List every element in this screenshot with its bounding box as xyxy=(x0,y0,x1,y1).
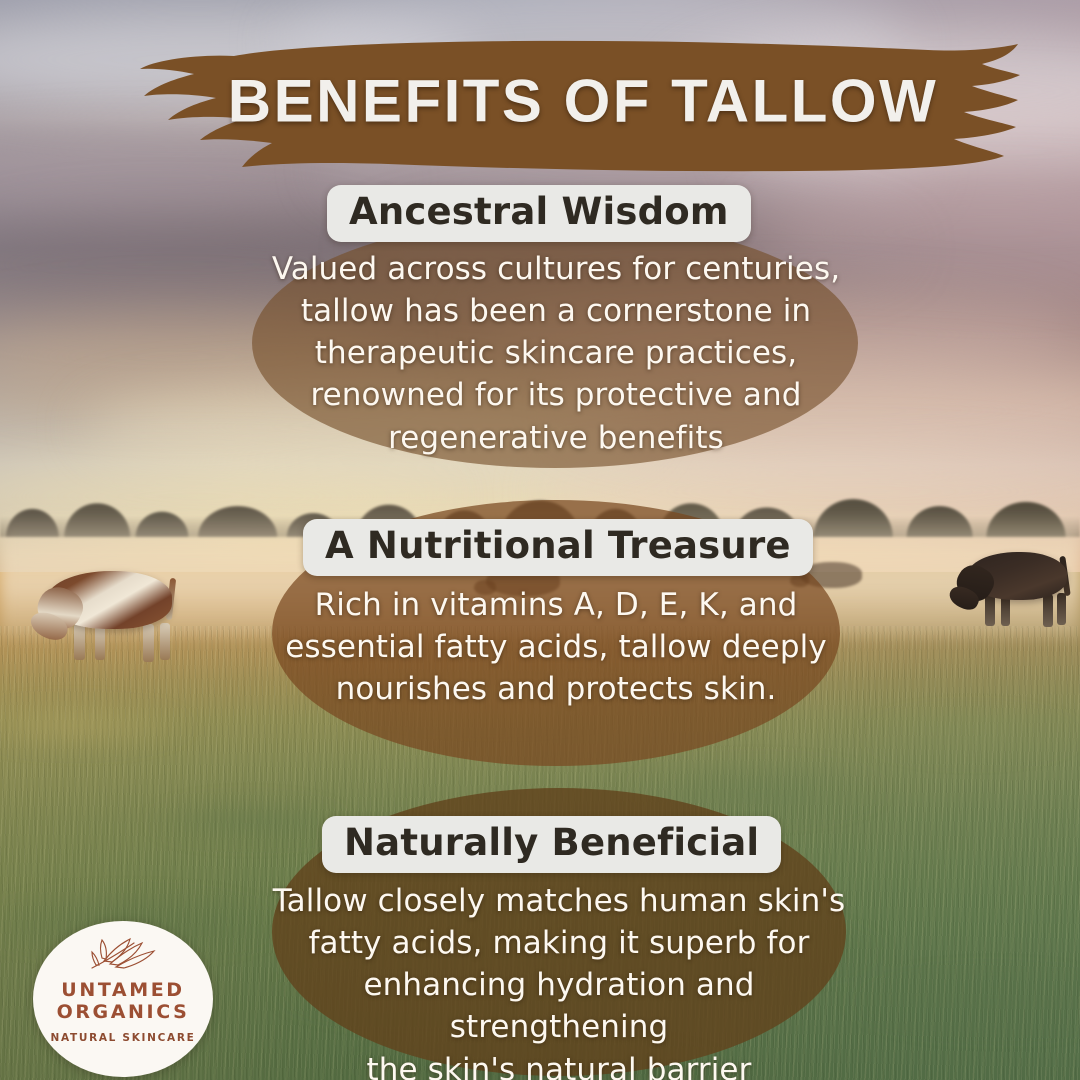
benefit-heading-pill-1: Ancestral Wisdom xyxy=(327,185,751,242)
benefit-body-2: Rich in vitamins A, D, E, K, and essenti… xyxy=(258,584,854,710)
benefit-body-line: enhancing hydration and strengthening xyxy=(250,964,868,1048)
logo-name-line1: UNTAMED xyxy=(61,979,184,1001)
benefit-body-line: therapeutic skincare practices, xyxy=(246,332,866,374)
benefit-heading-pill-2: A Nutritional Treasure xyxy=(303,519,813,576)
benefit-body-line: fatty acids, making it superb for xyxy=(250,922,868,964)
benefit-body-3: Tallow closely matches human skin's fatt… xyxy=(250,880,868,1080)
benefit-body-1: Valued across cultures for centuries, ta… xyxy=(246,248,866,459)
benefit-body-line: Rich in vitamins A, D, E, K, and xyxy=(258,584,854,626)
title-banner: BENEFITS OF TALLOW xyxy=(138,28,1022,174)
brand-logo[interactable]: UNTAMED ORGANICS NATURAL SKINCARE xyxy=(33,921,213,1077)
benefit-heading-pill-3: Naturally Beneficial xyxy=(322,816,781,873)
benefit-body-line: Tallow closely matches human skin's xyxy=(250,880,868,922)
benefit-body-line: essential fatty acids, tallow deeply xyxy=(258,626,854,668)
benefit-body-line: regenerative benefits xyxy=(246,417,866,459)
wheat-branch-icon xyxy=(86,935,160,973)
logo-name-line2: ORGANICS xyxy=(57,1001,190,1023)
benefit-body-line: renowned for its protective and xyxy=(246,374,866,416)
page-title: BENEFITS OF TALLOW xyxy=(138,67,1022,136)
logo-name: UNTAMED ORGANICS xyxy=(57,979,190,1023)
poster-canvas: BENEFITS OF TALLOW Ancestral Wisdom Valu… xyxy=(0,0,1080,1080)
benefit-body-line: tallow has been a cornerstone in xyxy=(246,290,866,332)
logo-tagline: NATURAL SKINCARE xyxy=(50,1032,195,1044)
benefit-body-line: Valued across cultures for centuries, xyxy=(246,248,866,290)
benefit-body-line: the skin's natural barrier xyxy=(250,1049,868,1080)
benefit-body-line: nourishes and protects skin. xyxy=(258,668,854,710)
